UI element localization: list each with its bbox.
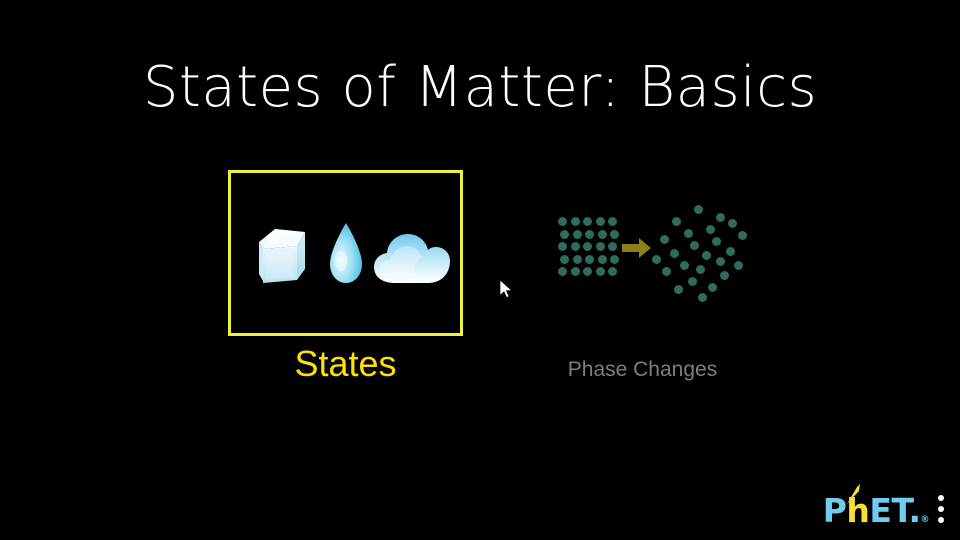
cloud-icon xyxy=(371,229,453,285)
phet-logo-wordmark: PhET.® xyxy=(823,494,929,527)
particle xyxy=(583,217,592,226)
particle xyxy=(585,255,594,264)
particle xyxy=(694,205,703,214)
particle xyxy=(652,255,661,264)
particle xyxy=(558,267,567,276)
page-title: States of Matter: Basics xyxy=(0,60,960,116)
particle xyxy=(608,267,617,276)
phet-logo-registered-mark: ® xyxy=(921,515,930,525)
particle xyxy=(596,242,605,251)
particle xyxy=(690,241,699,250)
phase-change-graphic xyxy=(540,201,745,306)
phase-arrow-icon xyxy=(622,237,652,259)
phet-logo-period: . xyxy=(908,491,920,530)
states-thumbnail xyxy=(231,173,460,333)
screen-button-phase-changes[interactable]: Phase Changes xyxy=(525,170,760,381)
particle xyxy=(734,261,743,270)
particle xyxy=(706,225,715,234)
particle xyxy=(696,265,705,274)
particle xyxy=(712,237,721,246)
particle xyxy=(560,230,569,239)
water-droplet-icon xyxy=(326,221,366,287)
phet-logo-dot xyxy=(938,517,944,523)
particle xyxy=(573,255,582,264)
phet-logo-arrow-icon xyxy=(845,484,861,504)
particle xyxy=(708,283,717,292)
particle xyxy=(674,285,683,294)
screen-chooser: States Phase Changes xyxy=(0,170,960,400)
particle xyxy=(698,293,707,302)
particle xyxy=(684,229,693,238)
gas-particles xyxy=(650,203,745,303)
particle xyxy=(560,255,569,264)
states-icon-group xyxy=(231,221,460,291)
particle xyxy=(738,231,747,240)
particle xyxy=(716,257,725,266)
particle xyxy=(716,213,725,222)
particle xyxy=(596,267,605,276)
screen-label-phase-changes[interactable]: Phase Changes xyxy=(525,358,760,381)
particle xyxy=(558,242,567,251)
particle xyxy=(726,247,735,256)
ice-cube-icon xyxy=(253,225,311,287)
phet-logo-dots xyxy=(938,495,944,523)
screen-label-states[interactable]: States xyxy=(228,344,463,384)
particle xyxy=(660,235,669,244)
particle xyxy=(610,255,619,264)
particle xyxy=(598,230,607,239)
particle xyxy=(608,217,617,226)
particle xyxy=(720,271,729,280)
phet-logo-dot xyxy=(938,495,944,501)
particle xyxy=(728,219,737,228)
particle xyxy=(571,242,580,251)
phase-changes-thumbnail-frame[interactable] xyxy=(525,170,760,336)
sim-home-screen: States of Matter: Basics xyxy=(0,0,960,540)
particle xyxy=(558,217,567,226)
phet-logo-letters-et: ET xyxy=(869,491,908,530)
particle xyxy=(670,249,679,258)
phase-changes-thumbnail xyxy=(528,173,757,333)
particle xyxy=(608,242,617,251)
phet-logo-letter-p: P xyxy=(823,491,847,530)
particle xyxy=(610,230,619,239)
screen-button-states[interactable]: States xyxy=(228,170,463,384)
particle xyxy=(583,267,592,276)
particle xyxy=(573,230,582,239)
particle xyxy=(598,255,607,264)
phet-logo[interactable]: PhET.® xyxy=(823,490,944,530)
solid-lattice-particles xyxy=(558,217,620,279)
particle xyxy=(688,277,697,286)
particle xyxy=(585,230,594,239)
particle xyxy=(571,267,580,276)
particle xyxy=(672,217,681,226)
particle xyxy=(571,217,580,226)
phet-logo-dot xyxy=(938,506,944,512)
particle xyxy=(596,217,605,226)
particle xyxy=(662,267,671,276)
particle xyxy=(583,242,592,251)
particle xyxy=(702,251,711,260)
particle xyxy=(680,261,689,270)
states-thumbnail-frame[interactable] xyxy=(228,170,463,336)
